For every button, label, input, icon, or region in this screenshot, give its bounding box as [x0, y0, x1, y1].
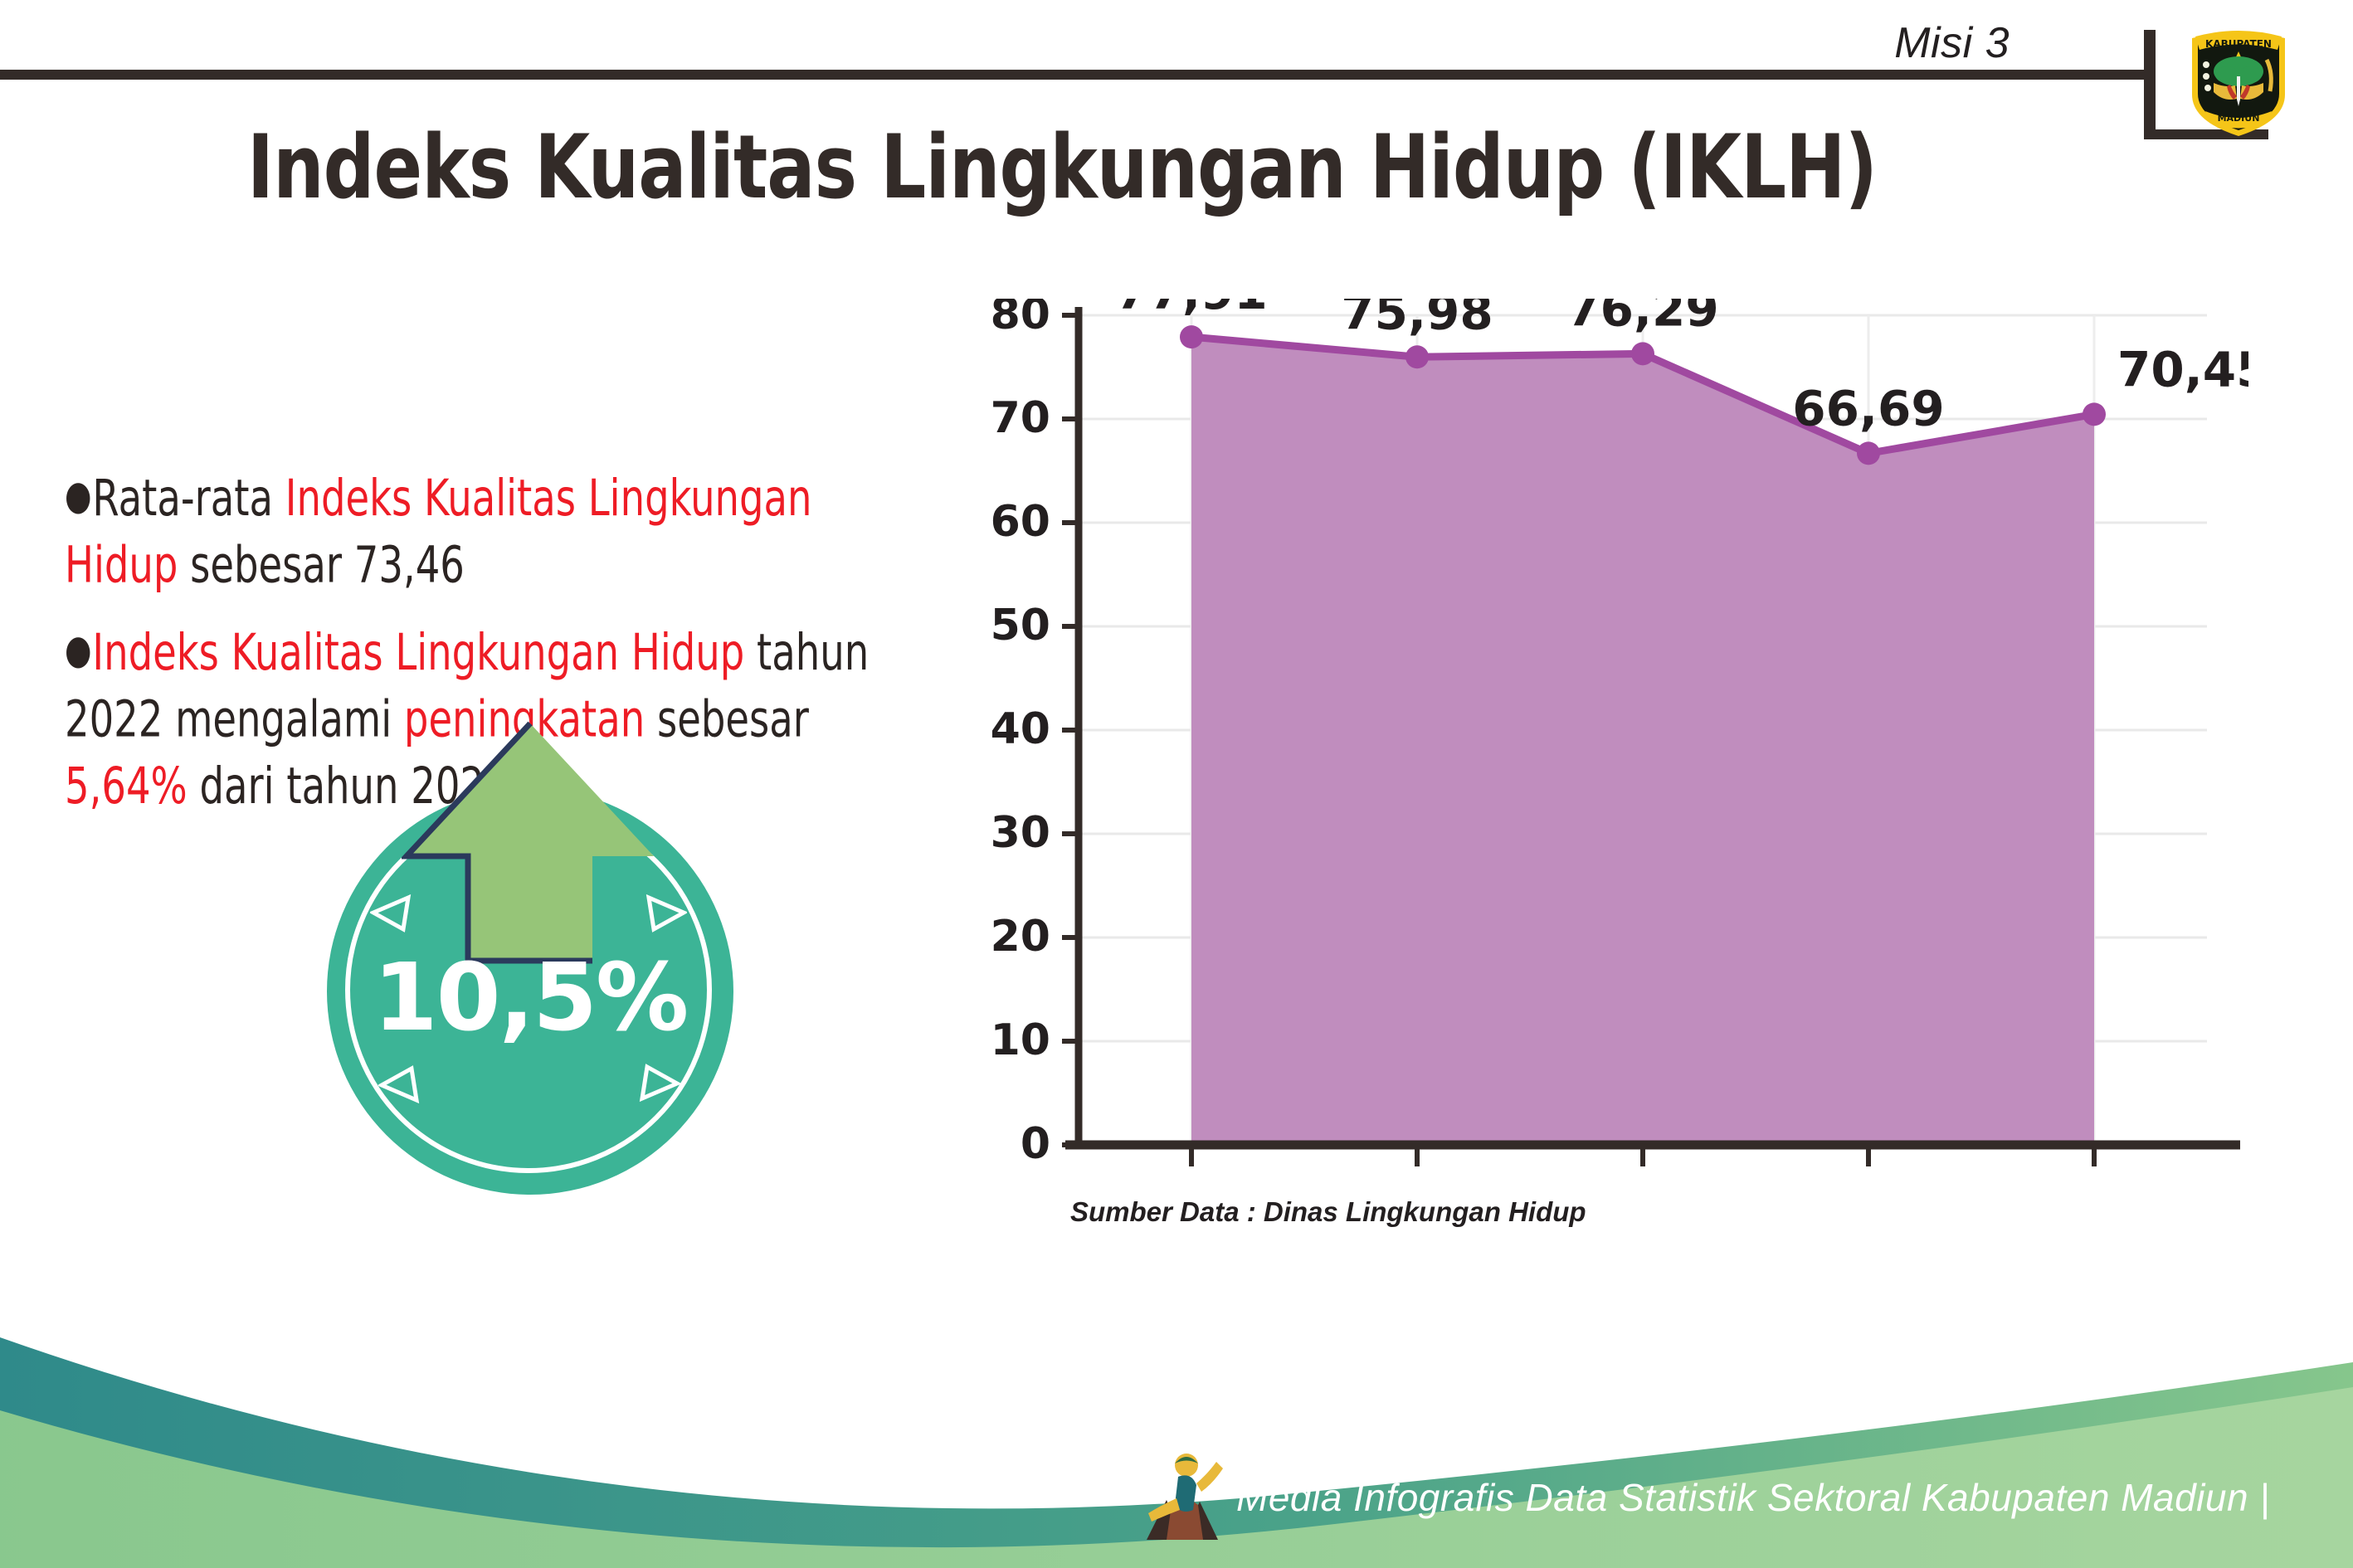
value-label: 76,29	[1566, 299, 1718, 337]
chart-source-note: Sumber Data : Dinas Lingkungan Hidup	[1070, 1196, 1586, 1228]
data-point-marker	[1631, 342, 1654, 365]
value-label: 77,91	[1115, 299, 1267, 320]
emblem-top-text: KABUPATEN	[2205, 38, 2272, 50]
page-title: Indeks Kualitas Lingkungan Hidup (IKLH)	[42, 116, 2082, 219]
iklh-area-chart: 01020304050607080 20182019202020212022 7…	[954, 299, 2248, 1178]
data-point-marker	[1405, 345, 1429, 368]
header-divider-line	[0, 70, 2144, 80]
bullet-marker-icon: ●	[65, 626, 91, 673]
y-tick-label: 10	[991, 1015, 1050, 1065]
badge-percentage-value: 10,5%	[327, 944, 733, 1052]
bullet-2-segment-1: Indeks Kualitas Lingkungan Hidup	[92, 623, 744, 682]
chart-area-series	[1180, 325, 2106, 1145]
value-label: 70,45	[2117, 341, 2248, 397]
y-tick-label: 0	[1021, 1119, 1050, 1169]
y-tick-label: 30	[991, 808, 1050, 858]
badge-tick-bottom-right-icon	[636, 1062, 680, 1102]
chart-y-tick-labels: 01020304050607080	[991, 299, 1050, 1169]
y-tick-label: 40	[991, 704, 1050, 754]
value-label: 66,69	[1792, 380, 1944, 436]
bullet-marker-icon: ●	[65, 472, 91, 519]
madiun-dancer-logo-icon	[1138, 1440, 1225, 1550]
bullet-1-segment-3: sebesar 73,46	[178, 535, 464, 594]
area-fill	[1191, 337, 2094, 1145]
mission-label: Misi 3	[1894, 18, 2010, 68]
y-tick-label: 70	[991, 393, 1050, 443]
y-tick-label: 20	[991, 912, 1050, 962]
emblem-bottom-text: MADIUN	[2218, 113, 2260, 124]
footer-caption: Media Infografis Data Statistik Sektoral…	[1236, 1475, 2270, 1520]
data-point-marker	[1180, 325, 1203, 348]
bullet-item-average: ●Rata-rata Indeks Kualitas Lingkungan Hi…	[65, 465, 913, 598]
kabupaten-madiun-emblem-icon: KABUPATEN MADIUN	[2184, 13, 2293, 138]
bullet-1-segment-1: Rata-rata	[92, 469, 285, 528]
increase-badge: 10,5%	[327, 788, 733, 1195]
y-tick-label: 60	[991, 497, 1050, 547]
bullet-2-segment-5: 5,64%	[65, 757, 188, 816]
data-point-marker	[2083, 402, 2106, 426]
y-tick-label: 80	[991, 299, 1050, 339]
data-point-marker	[1857, 441, 1880, 465]
badge-tick-bottom-left-icon	[378, 1064, 423, 1103]
bullet-2-segment-4: sebesar	[645, 689, 809, 748]
up-arrow-icon	[402, 718, 659, 967]
header-bracket-vertical	[2144, 30, 2156, 139]
value-label: 75,98	[1341, 299, 1493, 340]
y-tick-label: 50	[991, 601, 1050, 650]
